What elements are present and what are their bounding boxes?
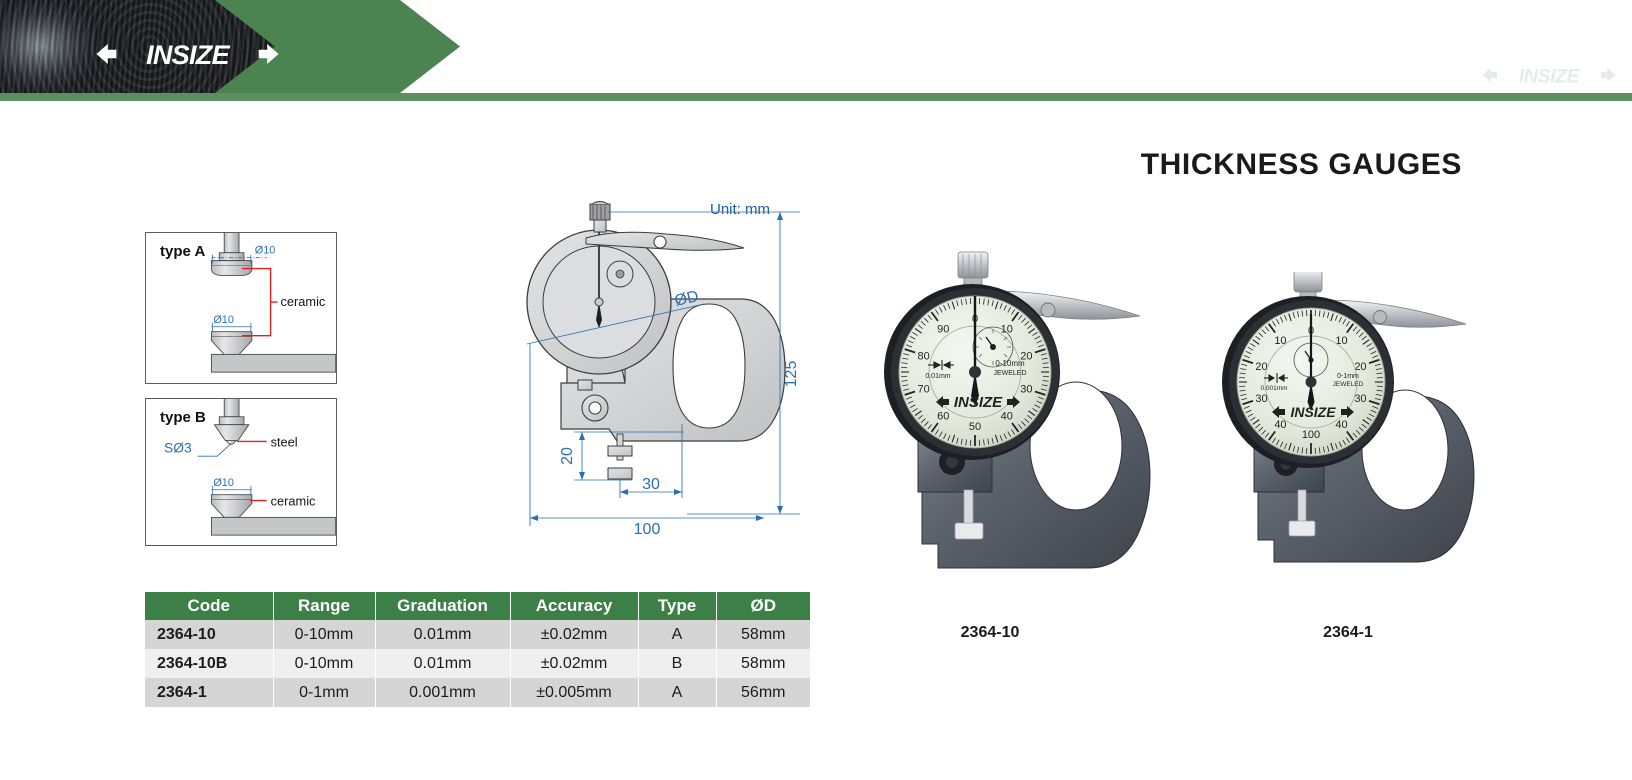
type-b-callout-anvil: ceramic <box>271 494 316 509</box>
dim-label-width: 100 <box>634 521 661 536</box>
table-row: 2364-10 0-10mm 0.01mm ±0.02mm A 58mm <box>145 620 810 649</box>
header-green-rule <box>0 93 1632 101</box>
product-photo-2364-10: 0102030405060708090 0-10mm JEWELED 0.01m… <box>860 240 1160 585</box>
type-a-dim-top: Ø10 <box>255 245 276 257</box>
product-caption-1: 2364-10 <box>900 624 1080 642</box>
svg-text:10: 10 <box>1274 335 1286 347</box>
dim-label-height: 125 <box>783 361 800 388</box>
svg-text:90: 90 <box>937 323 949 335</box>
svg-text:30: 30 <box>1354 393 1366 405</box>
dial-brand-2364-1: INSIZE <box>1290 404 1336 420</box>
dim-label-throat: 30 <box>642 476 660 493</box>
cell-code: 2364-10B <box>145 649 273 678</box>
table-header-row: Code Range Graduation Accuracy Type ØD <box>145 592 810 620</box>
cell-graduation: 0.01mm <box>375 620 510 649</box>
cell-range: 0-10mm <box>273 620 375 649</box>
svg-text:10: 10 <box>1335 335 1347 347</box>
cell-od: 56mm <box>716 678 810 707</box>
cell-od: 58mm <box>716 620 810 649</box>
cell-accuracy: ±0.02mm <box>510 649 638 678</box>
svg-text:40: 40 <box>1001 411 1013 423</box>
svg-text:40: 40 <box>1335 419 1347 431</box>
svg-text:20: 20 <box>1354 361 1366 373</box>
dim-label-gap: 20 <box>559 447 576 465</box>
type-a-dim-bottom: Ø10 <box>213 314 233 326</box>
dial-range-2364-10: 0-10mm <box>995 359 1025 368</box>
dial-brand-2364-10: INSIZE <box>954 394 1003 411</box>
type-a-callout: ceramic <box>280 294 325 309</box>
cell-accuracy: ±0.02mm <box>510 620 638 649</box>
catalog-page: INSIZE INSIZE THICKNESS GAUGES type A <box>0 0 1632 780</box>
type-b-drawing: SØ3 steel Ø10 ceramic <box>146 399 336 545</box>
cell-range: 0-10mm <box>273 649 375 678</box>
svg-text:20: 20 <box>1255 361 1267 373</box>
dial-jewel-2364-1: JEWELED <box>1333 381 1364 388</box>
th-type: Type <box>638 592 716 620</box>
page-header: INSIZE INSIZE <box>0 0 1632 101</box>
cell-code: 2364-1 <box>145 678 273 707</box>
insize-watermark: INSIZE <box>1474 62 1624 88</box>
dial-grad-2364-1: 0.001mm <box>1260 385 1287 392</box>
type-b-dim-anvil: Ø10 <box>213 477 234 489</box>
technical-drawing: ØD 125 100 30 20 <box>512 196 804 536</box>
th-od: ØD <box>716 592 810 620</box>
dial-grad-2364-10: 0.01mm <box>925 373 950 380</box>
type-b-callout-tip: steel <box>271 434 298 449</box>
svg-text:INSIZE: INSIZE <box>1519 65 1581 87</box>
specification-table: Code Range Graduation Accuracy Type ØD 2… <box>145 592 810 707</box>
type-b-dim-tip: SØ3 <box>164 439 192 455</box>
svg-text:30: 30 <box>1020 384 1032 396</box>
svg-text:40: 40 <box>1274 419 1286 431</box>
cell-graduation: 0.001mm <box>375 678 510 707</box>
th-code: Code <box>145 592 273 620</box>
th-range: Range <box>273 592 375 620</box>
product-photo-2364-1: 01020304010040302010 0-1mm JEWELED 0.001… <box>1200 272 1490 584</box>
dial-jewel-2364-10: JEWELED <box>993 370 1026 377</box>
cell-accuracy: ±0.005mm <box>510 678 638 707</box>
th-graduation: Graduation <box>375 592 510 620</box>
svg-text:100: 100 <box>1302 429 1320 441</box>
insize-logo: INSIZE <box>95 36 280 72</box>
page-title: THICKNESS GAUGES <box>1141 148 1462 182</box>
cell-type: B <box>638 649 716 678</box>
svg-text:30: 30 <box>1255 393 1267 405</box>
table-row: 2364-10B 0-10mm 0.01mm ±0.02mm B 58mm <box>145 649 810 678</box>
cell-graduation: 0.01mm <box>375 649 510 678</box>
type-b-diagram: type B SØ3 steel Ø <box>145 398 337 546</box>
svg-text:60: 60 <box>937 411 949 423</box>
product-caption-2: 2364-1 <box>1258 624 1438 642</box>
svg-text:INSIZE: INSIZE <box>146 40 230 70</box>
cell-od: 58mm <box>716 649 810 678</box>
type-a-drawing: Ø10 Ø10 ceramic <box>146 233 336 383</box>
svg-text:70: 70 <box>918 384 930 396</box>
cell-type: A <box>638 678 716 707</box>
cell-type: A <box>638 620 716 649</box>
th-accuracy: Accuracy <box>510 592 638 620</box>
type-a-diagram: type A Ø10 Ø10 <box>145 232 337 384</box>
table-row: 2364-1 0-1mm 0.001mm ±0.005mm A 56mm <box>145 678 810 707</box>
dial-range-2364-1: 0-1mm <box>1337 373 1359 380</box>
svg-text:80: 80 <box>918 350 930 362</box>
cell-code: 2364-10 <box>145 620 273 649</box>
svg-text:50: 50 <box>969 421 981 433</box>
cell-range: 0-1mm <box>273 678 375 707</box>
